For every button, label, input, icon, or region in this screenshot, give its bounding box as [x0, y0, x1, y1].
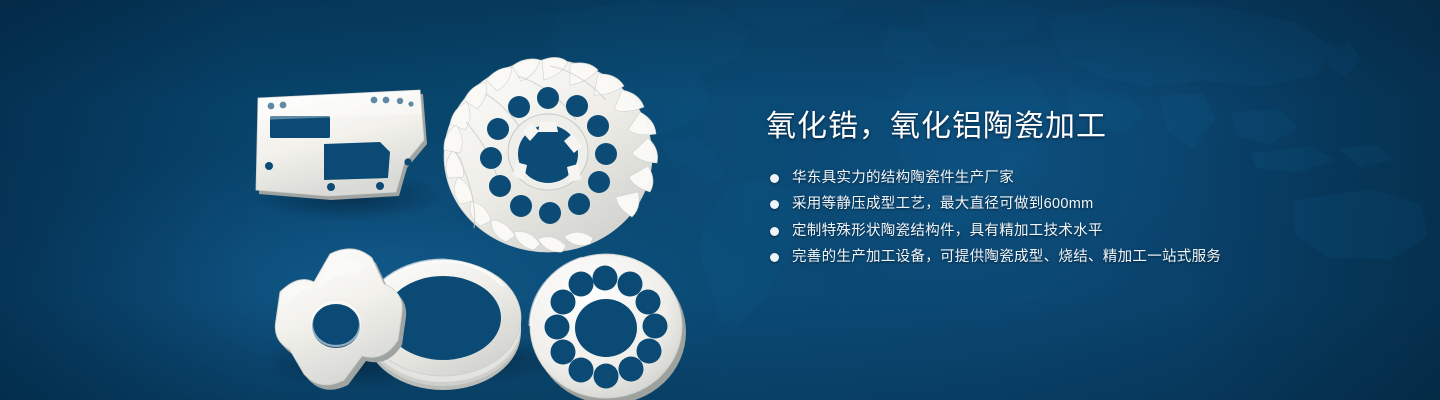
copy-block: 氧化锆，氧化铝陶瓷加工 华东具实力的结构陶瓷件生产厂家 采用等静压成型工艺，最大… — [766, 108, 1386, 266]
ceramic-product-banner: 氧化锆，氧化铝陶瓷加工 华东具实力的结构陶瓷件生产厂家 采用等静压成型工艺，最大… — [0, 0, 1440, 400]
feature-text: 华东具实力的结构陶瓷件生产厂家 — [792, 170, 1014, 187]
bullet-dot-icon — [770, 200, 779, 209]
feature-text: 定制特殊形状陶瓷结构件，具有精加工技术水平 — [792, 223, 1103, 240]
list-item: 采用等静压成型工艺，最大直径可做到600mm — [770, 196, 1386, 213]
feature-list: 华东具实力的结构陶瓷件生产厂家 采用等静压成型工艺，最大直径可做到600mm 定… — [770, 170, 1386, 267]
list-item: 完善的生产加工设备，可提供陶瓷成型、烧结、精加工一站式服务 — [770, 249, 1386, 266]
feature-text: 完善的生产加工设备，可提供陶瓷成型、烧结、精加工一站式服务 — [792, 249, 1221, 266]
bullet-dot-icon — [770, 253, 779, 262]
list-item: 定制特殊形状陶瓷结构件，具有精加工技术水平 — [770, 223, 1386, 240]
list-item: 华东具实力的结构陶瓷件生产厂家 — [770, 170, 1386, 187]
ceramic-plate-part — [256, 90, 427, 200]
bullet-dot-icon — [770, 174, 779, 183]
feature-text: 采用等静压成型工艺，最大直径可做到600mm — [792, 196, 1093, 213]
ceramic-perforated-disc-part — [530, 254, 686, 400]
ceramic-products-image — [228, 44, 728, 392]
page-title: 氧化锆，氧化铝陶瓷加工 — [766, 108, 1386, 146]
bullet-dot-icon — [770, 227, 779, 236]
